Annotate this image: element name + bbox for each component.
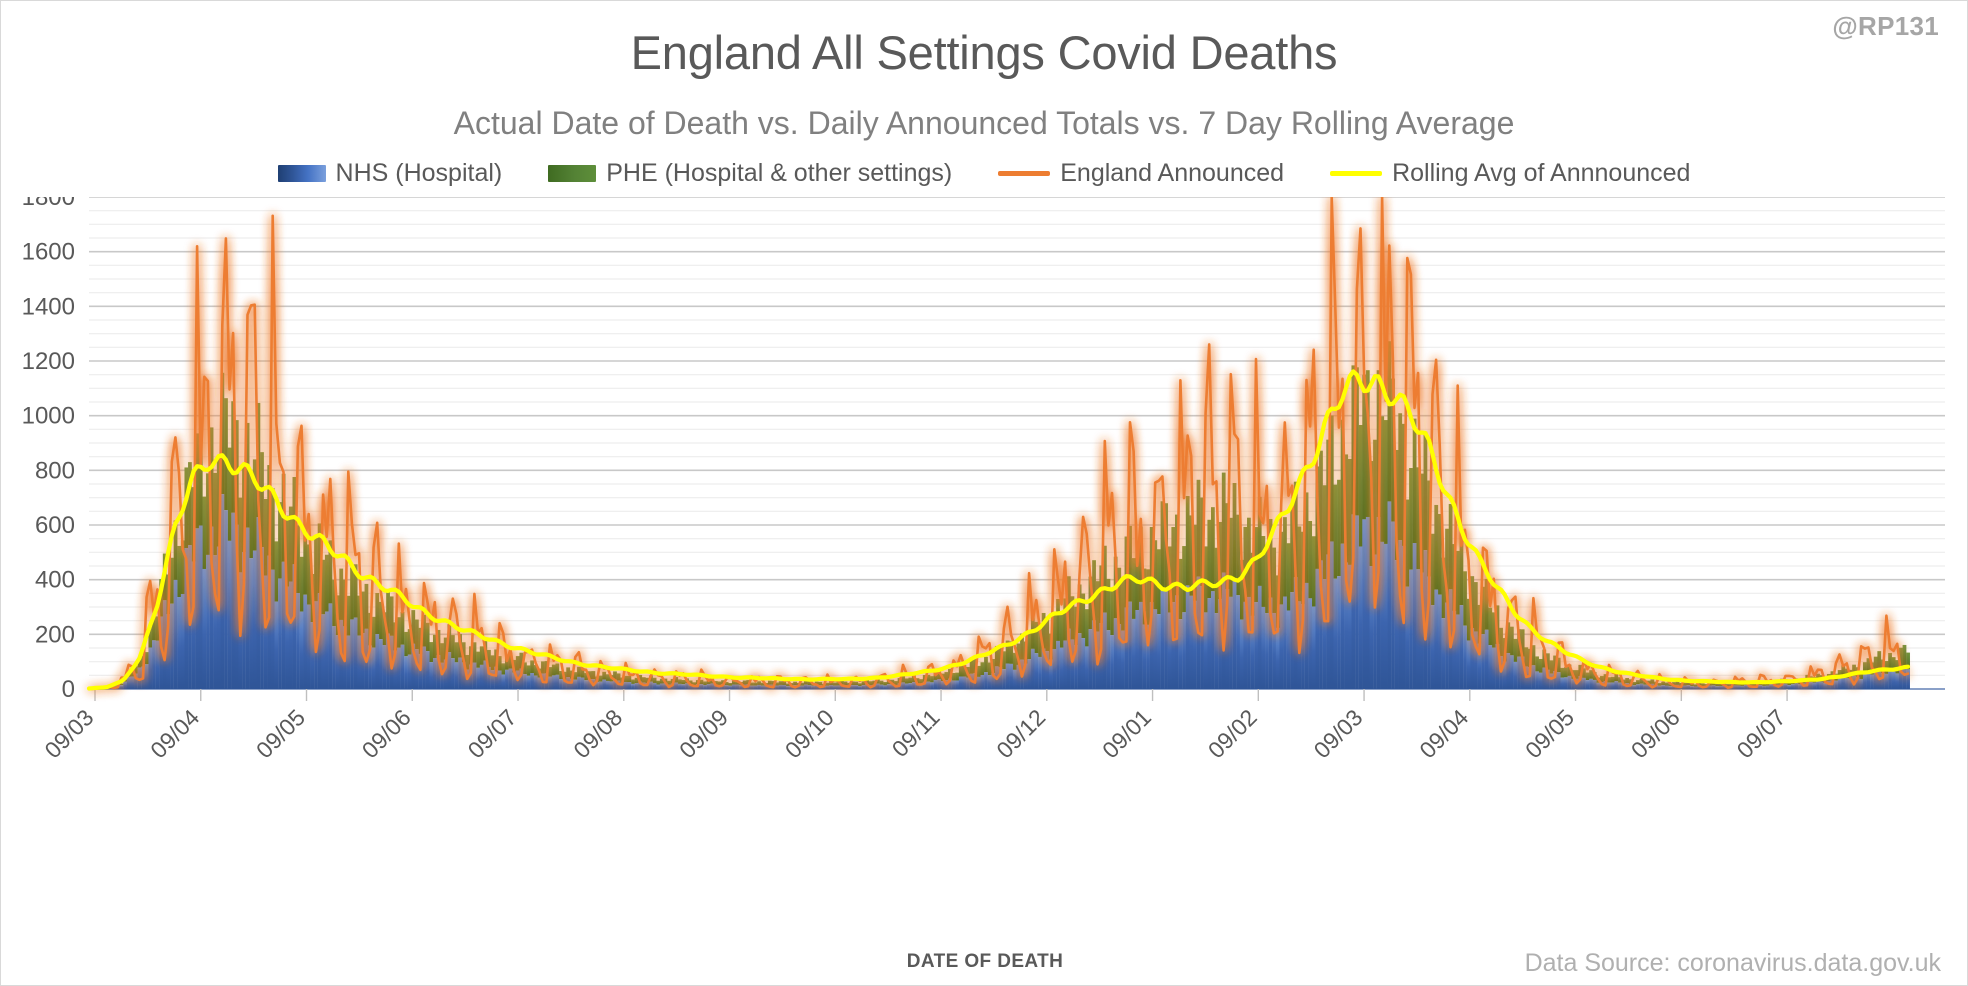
legend-item-phe[interactable]: PHE (Hospital & other settings) xyxy=(548,159,952,188)
svg-text:09/05: 09/05 xyxy=(1520,704,1579,763)
svg-text:1400: 1400 xyxy=(22,293,75,320)
legend-label-phe: PHE (Hospital & other settings) xyxy=(606,159,952,188)
chart-subtitle: Actual Date of Death vs. Daily Announced… xyxy=(1,105,1967,142)
svg-text:0: 0 xyxy=(62,676,75,703)
legend-label-announced: England Announced xyxy=(1060,159,1284,188)
svg-text:09/10: 09/10 xyxy=(780,704,839,763)
svg-text:09/08: 09/08 xyxy=(568,704,627,763)
svg-text:400: 400 xyxy=(35,567,75,594)
svg-text:1800: 1800 xyxy=(22,197,75,211)
svg-text:09/07: 09/07 xyxy=(1732,704,1791,763)
legend-label-nhs: NHS (Hospital) xyxy=(336,159,503,188)
announced-line-swatch-icon xyxy=(998,171,1050,176)
legend-item-rolling[interactable]: Rolling Avg of Annnounced xyxy=(1330,159,1690,188)
chart-legend: NHS (Hospital) PHE (Hospital & other set… xyxy=(1,159,1967,188)
svg-text:09/03: 09/03 xyxy=(1309,704,1368,763)
svg-text:09/01: 09/01 xyxy=(1097,704,1156,763)
page-title: England All Settings Covid Deaths xyxy=(1,25,1967,80)
chart-canvas: 02004006008001000120014001600180009/0309… xyxy=(1,197,1968,897)
svg-text:09/02: 09/02 xyxy=(1203,704,1262,763)
svg-text:09/04: 09/04 xyxy=(145,704,204,763)
nhs-area-swatch-icon xyxy=(278,165,326,182)
svg-text:09/11: 09/11 xyxy=(887,704,945,762)
svg-text:1200: 1200 xyxy=(22,348,75,375)
svg-text:200: 200 xyxy=(35,621,75,648)
legend-item-nhs[interactable]: NHS (Hospital) xyxy=(278,159,503,188)
svg-text:800: 800 xyxy=(35,457,75,484)
svg-text:09/06: 09/06 xyxy=(1626,704,1685,763)
plot-area: 02004006008001000120014001600180009/0309… xyxy=(1,197,1968,897)
svg-text:600: 600 xyxy=(35,512,75,539)
svg-text:09/06: 09/06 xyxy=(357,704,416,763)
phe-area-swatch-icon xyxy=(548,165,596,182)
rolling-line-swatch-icon xyxy=(1330,171,1382,176)
legend-label-rolling: Rolling Avg of Annnounced xyxy=(1392,159,1690,188)
svg-text:1000: 1000 xyxy=(22,403,75,430)
svg-text:09/09: 09/09 xyxy=(674,704,733,763)
svg-text:09/04: 09/04 xyxy=(1414,704,1473,763)
chart-root: @RP131 England All Settings Covid Deaths… xyxy=(0,0,1968,986)
svg-text:09/03: 09/03 xyxy=(39,704,98,763)
data-source-label: Data Source: coronavirus.data.gov.uk xyxy=(1525,949,1941,978)
svg-text:1600: 1600 xyxy=(22,239,75,266)
svg-text:09/07: 09/07 xyxy=(462,704,521,763)
svg-text:09/12: 09/12 xyxy=(991,704,1050,763)
legend-item-announced[interactable]: England Announced xyxy=(998,159,1284,188)
svg-text:09/05: 09/05 xyxy=(251,704,310,763)
